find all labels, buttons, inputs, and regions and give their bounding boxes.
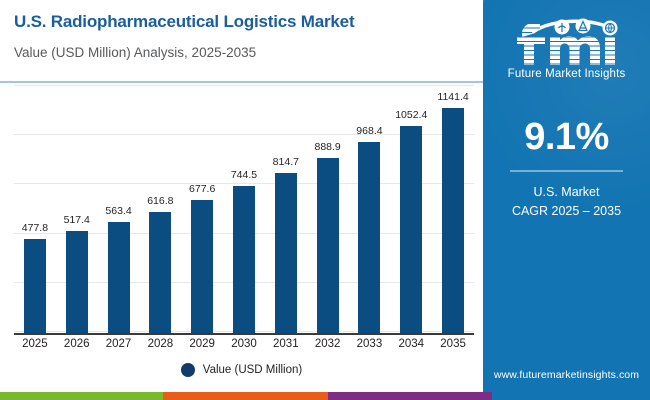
strip-segment-purple (328, 392, 492, 400)
bar-group[interactable]: 517.4 (56, 231, 98, 333)
x-axis-tick-label: 2032 (307, 338, 349, 350)
cagr-caption-line2: CAGR 2025 – 2035 (483, 202, 650, 221)
bar-group[interactable]: 616.8 (139, 212, 181, 333)
bar-group[interactable]: 1052.4 (390, 126, 432, 333)
bar-group[interactable]: 814.7 (265, 173, 307, 333)
bar[interactable] (66, 231, 88, 333)
bar-value-label: 517.4 (64, 214, 90, 226)
page-subtitle: Value (USD Million) Analysis, 2025-2035 (14, 45, 256, 60)
page-title: U.S. Radiopharmaceutical Logistics Marke… (14, 12, 354, 32)
chart-panel: U.S. Radiopharmaceutical Logistics Marke… (0, 0, 483, 392)
bar[interactable] (233, 186, 255, 333)
cagr-value: 9.1% (483, 118, 650, 156)
bar[interactable] (358, 142, 380, 333)
x-axis-labels: 2025202620272028202920302031203220332034… (14, 338, 474, 356)
bar[interactable] (400, 126, 422, 333)
bar[interactable] (24, 239, 46, 333)
bar-group[interactable]: 744.5 (223, 186, 265, 333)
strip-segment-blue (492, 392, 650, 400)
bar-value-label: 1052.4 (395, 109, 427, 121)
x-axis-tick-label: 2033 (349, 338, 391, 350)
series-dot-icon (181, 363, 195, 377)
x-axis-tick-label: 2030 (223, 338, 265, 350)
x-axis-tick-label: 2035 (432, 338, 474, 350)
bar-value-label: 677.6 (189, 183, 215, 195)
cagr-divider (510, 170, 623, 172)
bar[interactable] (149, 212, 171, 333)
cagr-caption: U.S. Market CAGR 2025 – 2035 (483, 183, 650, 221)
bar-value-label: 968.4 (356, 125, 382, 137)
bar[interactable] (442, 108, 464, 333)
bar-value-label: 888.9 (314, 141, 340, 153)
cagr-caption-line1: U.S. Market (483, 183, 650, 202)
x-axis-tick-label: 2034 (390, 338, 432, 350)
bar-value-label: 744.5 (231, 169, 257, 181)
x-axis-tick-label: 2028 (139, 338, 181, 350)
bar[interactable] (108, 222, 130, 333)
strip-segment-orange (163, 392, 328, 400)
bottom-color-strip (0, 392, 650, 400)
x-axis-tick-label: 2027 (98, 338, 140, 350)
x-axis-line (14, 333, 474, 335)
title-divider (0, 81, 483, 83)
bar-series: 477.8517.4563.4616.8677.6744.5814.7888.9… (14, 87, 474, 333)
bar-value-label: 477.8 (22, 222, 48, 234)
website-url[interactable]: www.futuremarketinsights.com (483, 369, 650, 381)
x-axis-tick-label: 2029 (181, 338, 223, 350)
cagr-callout: 9.1% U.S. Market CAGR 2025 – 2035 (483, 118, 650, 221)
bar-group[interactable]: 888.9 (307, 158, 349, 333)
bar-value-label: 814.7 (273, 156, 299, 168)
gridline (14, 85, 474, 86)
x-axis-tick-label: 2025 (14, 338, 56, 350)
legend-item-label: Value (USD Million) (203, 364, 302, 376)
bar-group[interactable]: 477.8 (14, 239, 56, 333)
brand-panel: Future Market Insights 9.1% U.S. Market … (483, 0, 650, 392)
x-axis-tick-label: 2031 (265, 338, 307, 350)
x-axis-tick-label: 2026 (56, 338, 98, 350)
bar[interactable] (191, 200, 213, 333)
infographic-page: U.S. Radiopharmaceutical Logistics Marke… (0, 0, 650, 400)
bar-value-label: 563.4 (105, 205, 131, 217)
brand-logo: Future Market Insights (483, 8, 650, 86)
plot-area: 477.8517.4563.4616.8677.6744.5814.7888.9… (14, 85, 474, 335)
bar-value-label: 616.8 (147, 195, 173, 207)
brand-wordmark: Future Market Insights (508, 68, 626, 80)
chart-legend: Value (USD Million) (0, 363, 483, 377)
bar-value-label: 1141.4 (437, 91, 468, 103)
bar-group[interactable]: 677.6 (181, 200, 223, 333)
fmi-logo-icon (507, 15, 627, 67)
strip-segment-green (0, 392, 163, 400)
bar-group[interactable]: 563.4 (98, 222, 140, 333)
bar[interactable] (275, 173, 297, 333)
bar[interactable] (317, 158, 339, 333)
bar-group[interactable]: 968.4 (349, 142, 391, 333)
bar-group[interactable]: 1141.4 (432, 108, 474, 333)
